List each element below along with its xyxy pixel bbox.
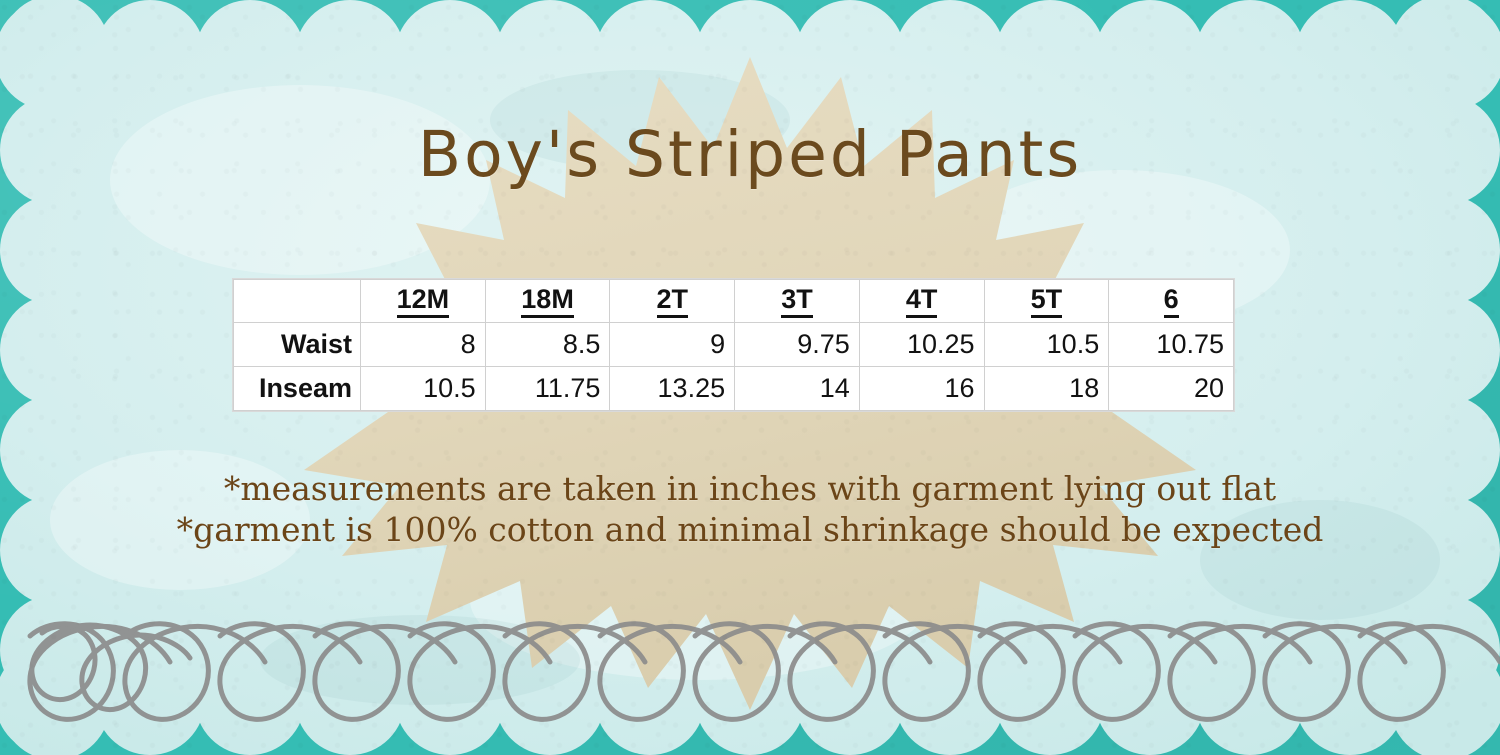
row-label: Waist: [234, 323, 361, 367]
footnote-line: *garment is 100% cotton and minimal shri…: [0, 509, 1500, 550]
size-chart-table: 12M 18M 2T 3T 4T 5T 6 Waist 8 8.5 9 9.75…: [233, 279, 1234, 411]
table-column-header: 6: [1109, 280, 1234, 323]
column-header-label: 4T: [906, 286, 938, 318]
table-row: Inseam 10.5 11.75 13.25 14 16 18 20: [234, 367, 1234, 411]
table-corner-cell: [234, 280, 361, 323]
table-cell: 10.5: [361, 367, 486, 411]
table-column-header: 5T: [984, 280, 1109, 323]
table-column-header: 4T: [859, 280, 984, 323]
sizing-chart-graphic: Boy's Striped Pants 12M 18M 2T 3T 4T 5T …: [0, 0, 1500, 755]
page-title: Boy's Striped Pants: [0, 118, 1500, 191]
table-cell: 11.75: [485, 367, 610, 411]
footnote-line: *measurements are taken in inches with g…: [0, 468, 1500, 509]
table-cell: 14: [735, 367, 860, 411]
footnotes: *measurements are taken in inches with g…: [0, 468, 1500, 550]
table-column-header: 2T: [610, 280, 735, 323]
table-cell: 13.25: [610, 367, 735, 411]
row-label: Inseam: [234, 367, 361, 411]
table-cell: 10.25: [859, 323, 984, 367]
column-header-label: 5T: [1031, 286, 1063, 318]
column-header-label: 18M: [521, 286, 574, 318]
table-cell: 10.5: [984, 323, 1109, 367]
table-cell: 9: [610, 323, 735, 367]
table-cell: 8: [361, 323, 486, 367]
table-cell: 9.75: [735, 323, 860, 367]
table-row: Waist 8 8.5 9 9.75 10.25 10.5 10.75: [234, 323, 1234, 367]
table-column-header: 12M: [361, 280, 486, 323]
table-cell: 16: [859, 367, 984, 411]
column-header-label: 2T: [657, 286, 689, 318]
column-header-label: 3T: [781, 286, 813, 318]
table-cell: 18: [984, 367, 1109, 411]
table-column-header: 3T: [735, 280, 860, 323]
table-cell: 8.5: [485, 323, 610, 367]
column-header-label: 6: [1164, 286, 1179, 318]
table-header-row: 12M 18M 2T 3T 4T 5T 6: [234, 280, 1234, 323]
column-header-label: 12M: [397, 286, 450, 318]
table-cell: 20: [1109, 367, 1234, 411]
table-column-header: 18M: [485, 280, 610, 323]
table-cell: 10.75: [1109, 323, 1234, 367]
